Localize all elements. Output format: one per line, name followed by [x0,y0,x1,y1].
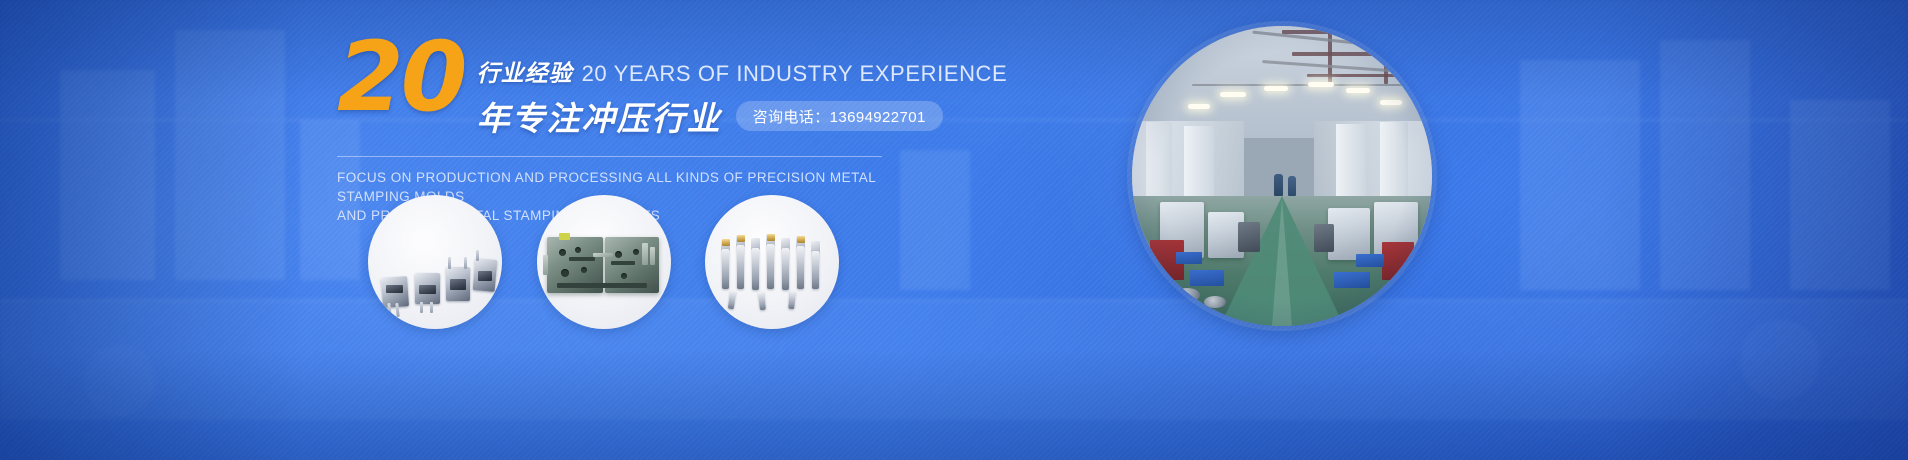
mold-parts [537,195,671,329]
promo-banner: 20 行业经验 20 YEARS OF INDUSTRY EXPERIENCE … [0,0,1908,460]
product-circle-stamping-mold [537,195,671,329]
copy-divider [337,156,882,157]
years-number: 20 [337,38,465,117]
product-circle-terminals [705,195,839,329]
headline-line-1: 行业经验 20 YEARS OF INDUSTRY EXPERIENCE [477,54,1008,88]
headline-en-small: 20 YEARS OF INDUSTRY EXPERIENCE [582,61,1008,87]
headline-row: 20 行业经验 20 YEARS OF INDUSTRY EXPERIENCE … [337,36,897,140]
headline-line-2: 年专注冲压行业 咨询电话：13694922701 [477,92,1008,140]
phone-badge[interactable]: 咨询电话：13694922701 [736,101,943,131]
factory-photo [1132,26,1432,326]
factory-photo-circle [1132,26,1432,326]
product-circle-connectors [368,195,502,329]
headline-cn-small: 行业经验 [477,54,573,88]
headline-cn-large: 年专注冲压行业 [477,92,722,140]
connector-parts [368,195,502,329]
headline-texts: 行业经验 20 YEARS OF INDUSTRY EXPERIENCE 年专注… [477,36,1008,140]
terminal-parts [705,195,839,329]
